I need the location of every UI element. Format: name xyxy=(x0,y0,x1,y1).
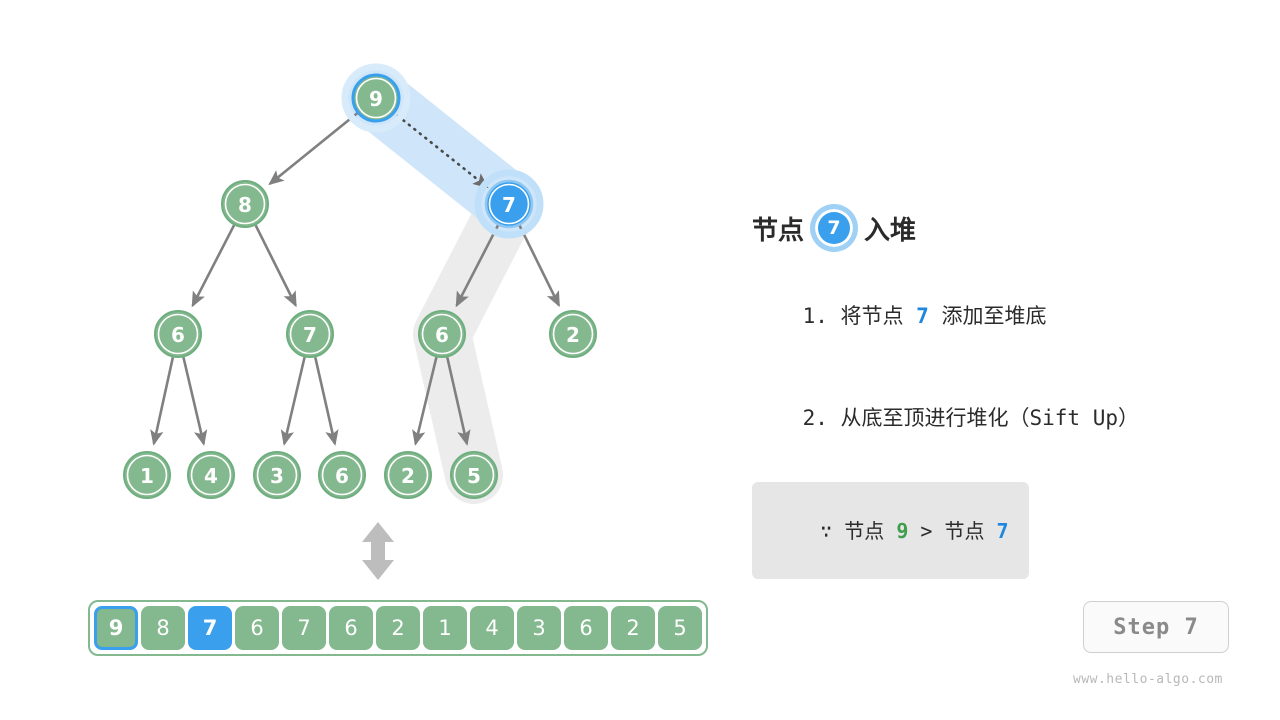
heap-array: 9876762143625 xyxy=(88,600,708,656)
node-value: 8 xyxy=(238,193,252,217)
tree-node: 6 xyxy=(419,311,465,357)
step-2-prefix: 2. 从底至顶进行堆化（Sift Up） xyxy=(803,406,1139,430)
array-cell: 1 xyxy=(423,606,467,650)
array-cell: 2 xyxy=(376,606,420,650)
because-symbol: ∵ xyxy=(820,519,832,543)
tree-node: 7 xyxy=(287,311,333,357)
tree-edge xyxy=(183,357,203,443)
panel-heading-suffix: 入堆 xyxy=(864,210,916,247)
tree-node: 4 xyxy=(188,452,234,498)
array-cell: 5 xyxy=(658,606,702,650)
node-value: 6 xyxy=(435,323,449,347)
node-value: 9 xyxy=(369,87,383,111)
step-item-1: 1. 将节点 7 添加至堆底 xyxy=(752,276,1252,354)
tree-edge xyxy=(154,357,173,443)
array-cell: 6 xyxy=(235,606,279,650)
node-value: 7 xyxy=(303,323,317,347)
conclusion-right-label: 节点 xyxy=(945,519,985,543)
array-cell: 7 xyxy=(282,606,326,650)
node-value: 7 xyxy=(502,193,516,217)
tree-node: 2 xyxy=(385,452,431,498)
tree-node: 6 xyxy=(155,311,201,357)
tree-node: 3 xyxy=(254,452,300,498)
tree-edge xyxy=(315,357,335,443)
conclusion-box: ∵ 节点 9 > 节点 7 xyxy=(752,482,1029,579)
node-value: 4 xyxy=(204,464,218,488)
conclusion-left-label: 节点 xyxy=(844,519,884,543)
conclusion-left-value: 9 xyxy=(896,519,908,543)
tree-nodes: 9876762143625 xyxy=(124,67,596,498)
double-arrow-vertical-icon xyxy=(358,520,398,582)
tree-node: 8 xyxy=(222,181,268,227)
node-value: 2 xyxy=(566,323,580,347)
step-1-value: 7 xyxy=(916,304,929,328)
tree-svg: 9876762143625 xyxy=(0,0,730,600)
node-value: 5 xyxy=(467,464,481,488)
conclusion-right-value: 7 xyxy=(997,519,1009,543)
explanation-panel: 节点 7 入堆 1. 将节点 7 添加至堆底 2. 从底至顶进行堆化（Sift … xyxy=(752,204,1252,579)
tree-node: 7 xyxy=(478,173,540,235)
array-cell: 3 xyxy=(517,606,561,650)
step-1-suffix: 添加至堆底 xyxy=(929,304,1047,328)
array-cell: 4 xyxy=(470,606,514,650)
panel-heading-prefix: 节点 xyxy=(752,210,804,247)
tree-edge xyxy=(193,225,234,305)
tree-node: 2 xyxy=(550,311,596,357)
tree-node: 1 xyxy=(124,452,170,498)
array-cell: 2 xyxy=(611,606,655,650)
tree-node: 6 xyxy=(319,452,365,498)
node-value: 2 xyxy=(401,464,415,488)
node-value: 1 xyxy=(140,464,154,488)
tree-edge xyxy=(520,226,559,306)
watermark: www.hello-algo.com xyxy=(1073,672,1223,687)
array-cell: 6 xyxy=(329,606,373,650)
tree-node: 9 xyxy=(345,67,407,129)
array-cell: 6 xyxy=(564,606,608,650)
tree-edge xyxy=(284,357,304,443)
node-value: 6 xyxy=(335,464,349,488)
tree-node: 5 xyxy=(451,452,497,498)
node-value: 6 xyxy=(171,323,185,347)
node-value: 3 xyxy=(270,464,284,488)
step-item-2: 2. 从底至顶进行堆化（Sift Up） xyxy=(752,378,1252,456)
tree-edge xyxy=(256,225,296,305)
array-cell: 9 xyxy=(94,606,138,650)
panel-heading: 节点 7 入堆 xyxy=(752,204,1252,252)
step-1-prefix: 1. 将节点 xyxy=(803,304,917,328)
tree-edge xyxy=(270,113,357,184)
array-cell: 8 xyxy=(141,606,185,650)
array-cell: 7 xyxy=(188,606,232,650)
panel-heading-chip: 7 xyxy=(815,209,853,247)
conclusion-operator: > xyxy=(920,519,932,543)
step-badge: Step 7 xyxy=(1083,601,1229,653)
